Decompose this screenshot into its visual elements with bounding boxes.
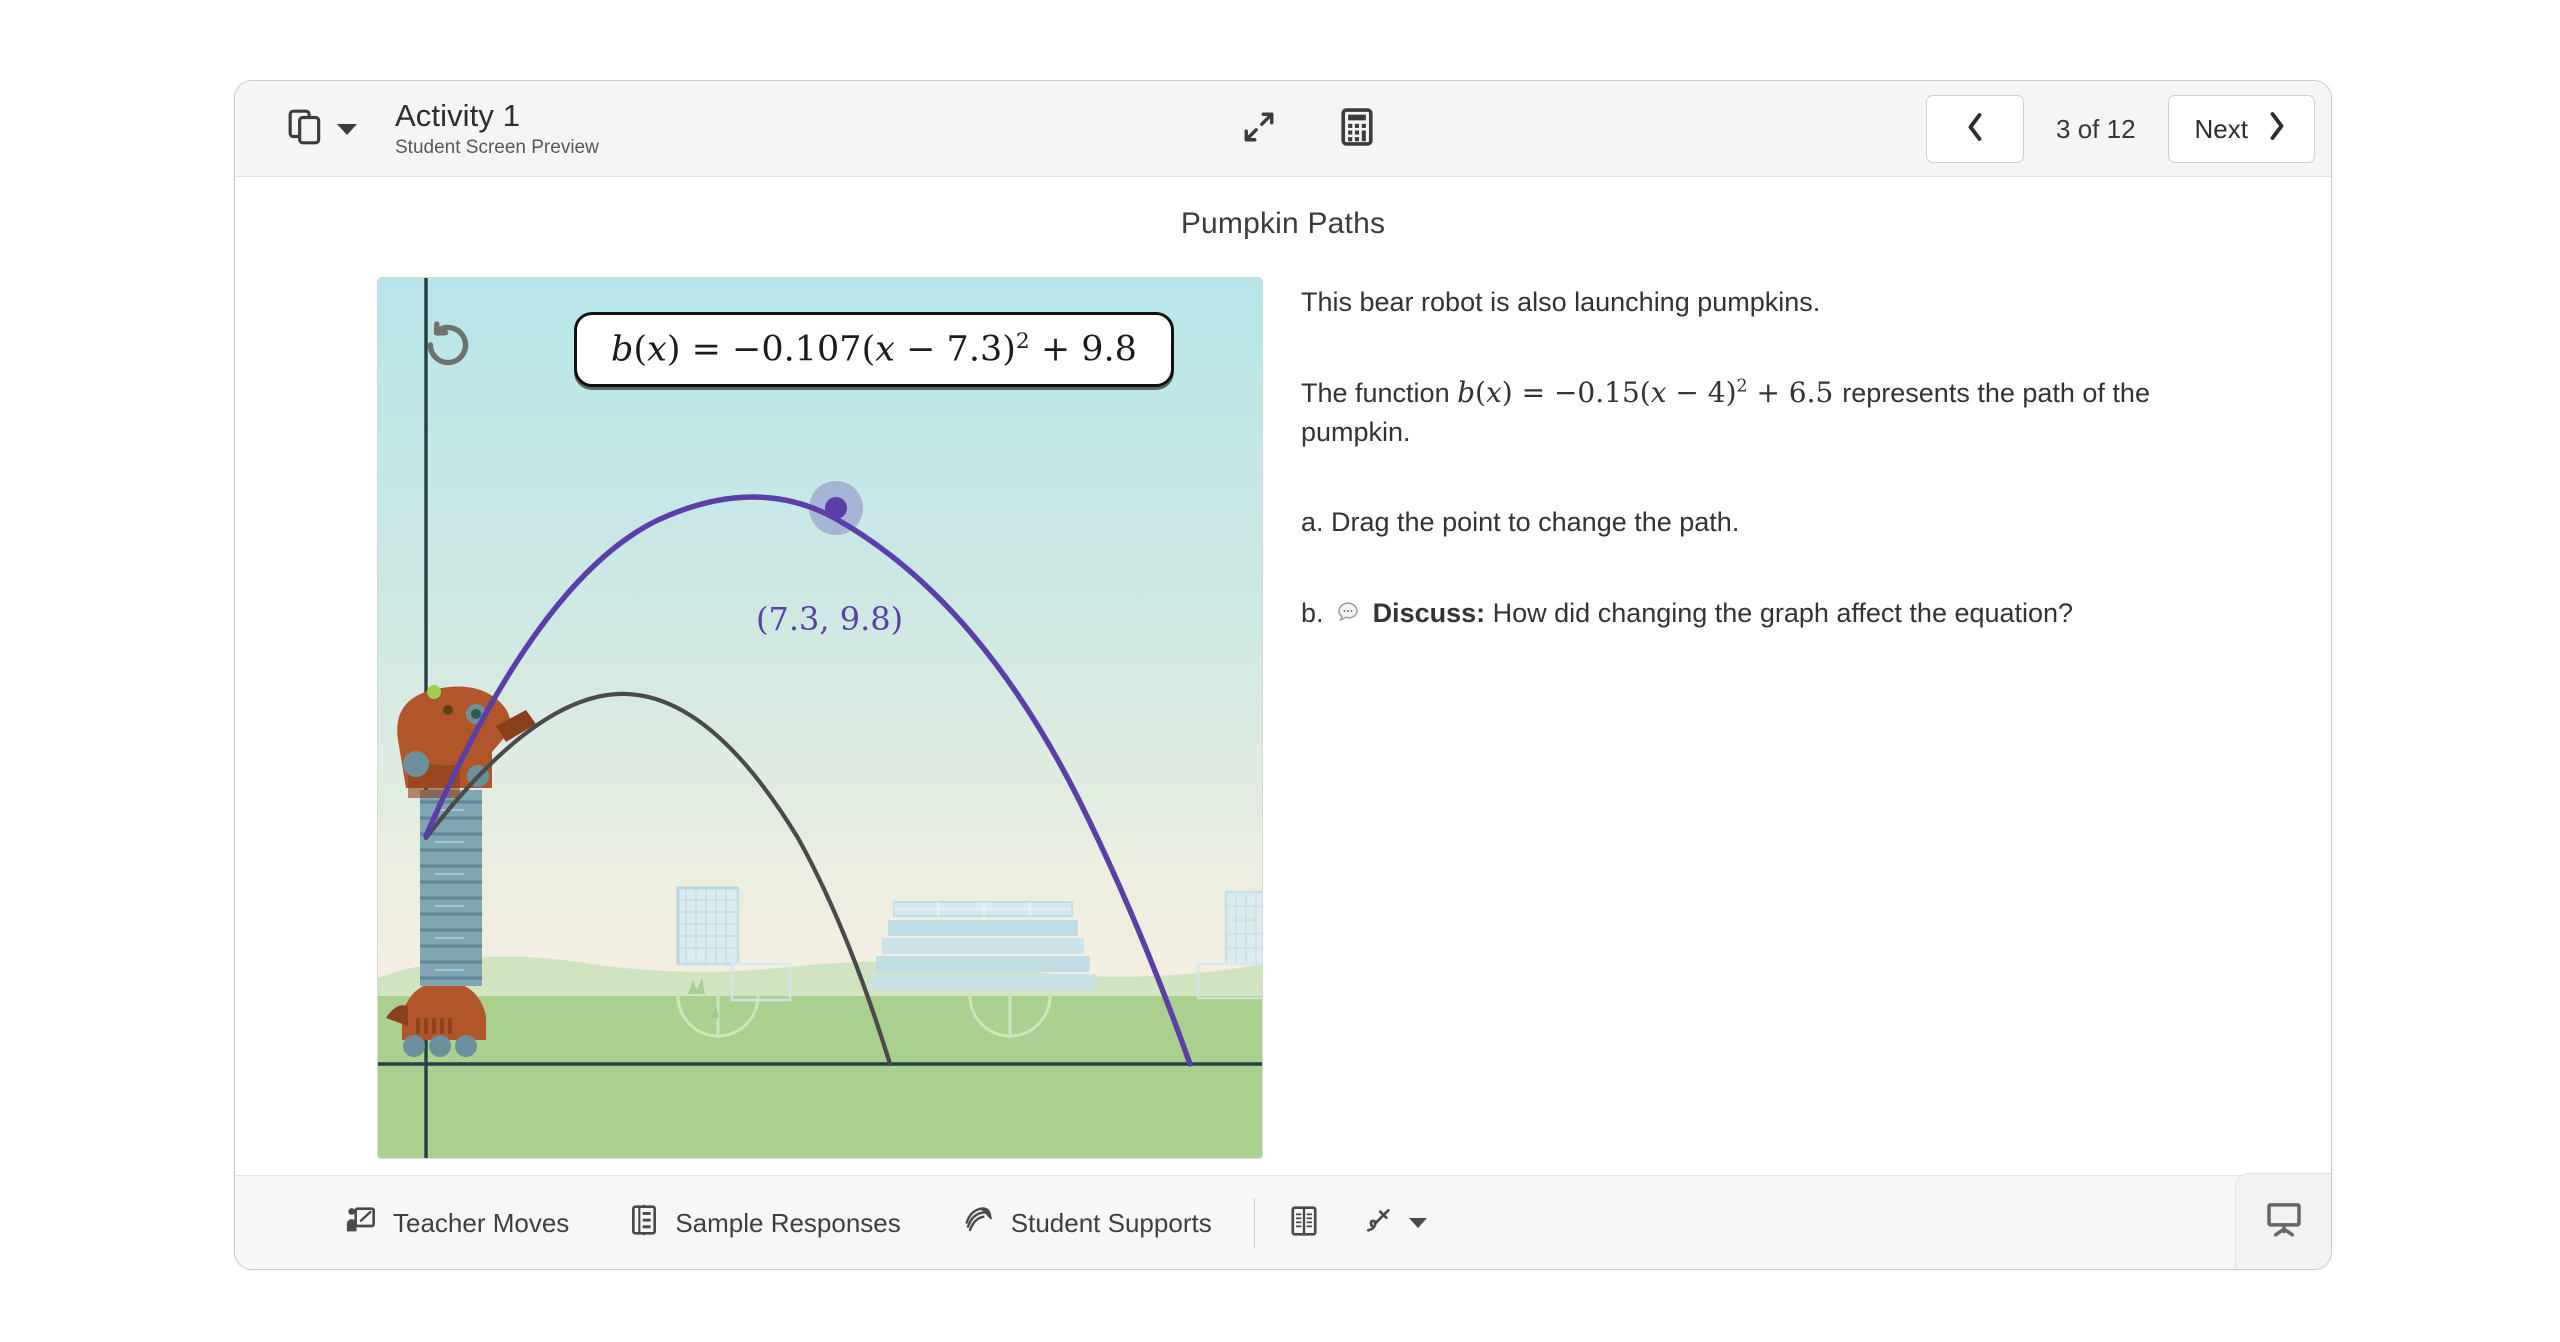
title-block: Activity 1 Student Screen Preview <box>395 99 599 160</box>
copy-screens-icon <box>287 107 325 152</box>
task-b-marker: b. <box>1301 598 1324 628</box>
discuss-label: Discuss: <box>1373 598 1486 628</box>
open-book-icon <box>1289 1205 1319 1242</box>
teacher-board-icon <box>345 1204 377 1243</box>
previous-screen-button[interactable] <box>1926 95 2024 163</box>
chevron-down-icon <box>337 124 357 135</box>
function-description: The function b(x) = −0.15(x − 4)2 + 6.5 … <box>1301 373 2231 451</box>
sample-responses-button[interactable]: Sample Responses <box>599 1176 930 1270</box>
function-math: b(x) = −0.15(x − 4)2 + 6.5 <box>1457 376 1842 409</box>
footer-divider <box>1254 1198 1255 1248</box>
page-title: Activity 1 <box>395 99 599 134</box>
speech-bubble-icon <box>1336 597 1360 635</box>
student-supports-label: Student Supports <box>1011 1208 1212 1239</box>
interactive-graph[interactable]: b(x) = −0.107(x − 7.3)2 + 9.8 (7.3, 9.8) <box>377 277 1263 1159</box>
student-supports-button[interactable]: Student Supports <box>931 1176 1242 1270</box>
annotate-tool-button[interactable] <box>1341 1176 1449 1270</box>
pen-squiggle-icon <box>1363 1205 1395 1242</box>
calculator-button[interactable] <box>1333 105 1381 153</box>
screens-dropdown-button[interactable] <box>235 99 371 160</box>
app-page: Activity 1 Student Screen Preview <box>0 0 2560 1342</box>
hands-support-icon <box>961 1204 995 1243</box>
draggable-vertex-point <box>809 481 863 535</box>
intro-text: This bear robot is also launching pumpki… <box>1301 283 2231 321</box>
sample-responses-label: Sample Responses <box>675 1208 900 1239</box>
slide-body: Pumpkin Paths <box>235 177 2331 1177</box>
calculator-icon <box>1340 108 1374 151</box>
activity-footer: Teacher Moves <box>235 1175 2331 1269</box>
page-indicator: 3 of 12 <box>2024 114 2168 145</box>
graph-canvas[interactable] <box>378 278 1263 1159</box>
teacher-moves-button[interactable]: Teacher Moves <box>315 1176 599 1270</box>
activity-card: Activity 1 Student Screen Preview <box>234 80 2332 1270</box>
slide-title: Pumpkin Paths <box>235 177 2331 241</box>
equation-text: b(x) = −0.107(x − 7.3)2 + 9.8 <box>611 329 1137 370</box>
page-subtitle: Student Screen Preview <box>395 137 599 159</box>
teacher-moves-label: Teacher Moves <box>393 1208 569 1239</box>
next-screen-button[interactable]: Next <box>2168 95 2315 163</box>
expand-arrows-icon <box>1242 110 1276 149</box>
header-nav-group: 3 of 12 Next <box>1926 81 2315 177</box>
equation-display-box[interactable]: b(x) = −0.107(x − 7.3)2 + 9.8 <box>574 312 1174 387</box>
discuss-question: How did changing the graph affect the eq… <box>1493 598 2073 628</box>
activity-header: Activity 1 Student Screen Preview <box>235 81 2331 177</box>
next-button-label: Next <box>2195 114 2248 145</box>
expand-button[interactable] <box>1235 105 1283 153</box>
footer-tools: Teacher Moves <box>315 1176 1449 1270</box>
open-book-button[interactable] <box>1267 1176 1341 1270</box>
document-list-icon <box>629 1204 659 1243</box>
header-left-group: Activity 1 Student Screen Preview <box>235 81 599 177</box>
function-prefix: The function <box>1301 378 1450 408</box>
reset-graph-button[interactable] <box>420 318 476 374</box>
grass-field <box>378 996 1263 1159</box>
bleachers <box>870 902 1096 990</box>
instructions-panel: This bear robot is also launching pumpki… <box>1301 277 2231 1159</box>
chevron-left-icon <box>1964 112 1986 147</box>
presentation-screen-icon <box>2264 1199 2304 1244</box>
task-b: b. Discuss: How did changing the graph a… <box>1301 594 2231 635</box>
chevron-down-icon <box>1409 1218 1427 1228</box>
slide-content: b(x) = −0.107(x − 7.3)2 + 9.8 (7.3, 9.8)… <box>235 277 2331 1159</box>
chevron-right-icon <box>2266 111 2288 148</box>
present-mode-button[interactable] <box>2235 1173 2331 1269</box>
header-center-tools <box>1235 81 1381 177</box>
task-a: a. Drag the point to change the path. <box>1301 503 2231 541</box>
vertex-coordinate-label: (7.3, 9.8) <box>756 600 903 638</box>
